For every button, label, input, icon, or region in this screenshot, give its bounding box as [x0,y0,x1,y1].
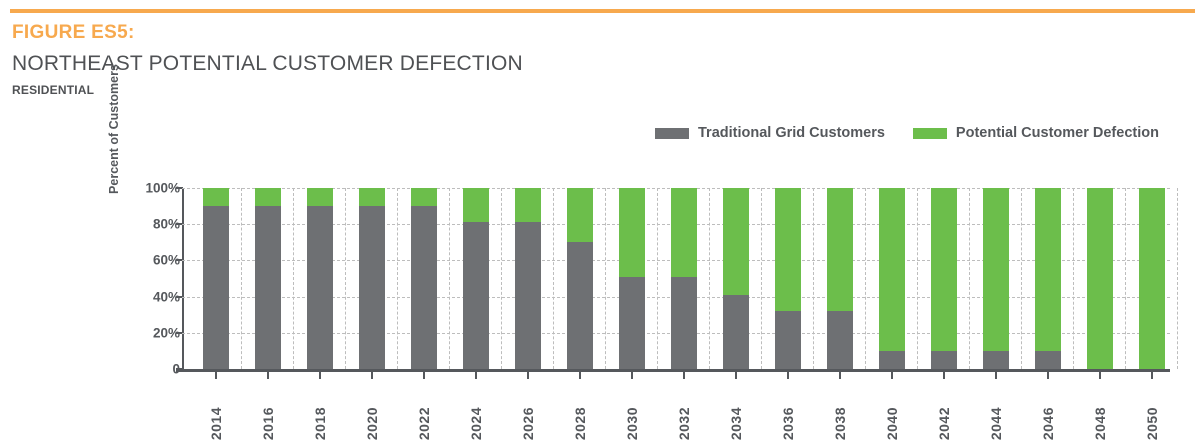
x-tick-label: 2018 [312,407,328,440]
bar-2032[interactable] [671,188,697,369]
x-tick-label: 2042 [936,407,952,440]
x-tick-mark [1047,371,1049,379]
x-tick-label: 2014 [208,407,224,440]
bar-segment-potential-defection [671,188,697,277]
x-tick-mark [371,371,373,379]
plot-area [182,188,1170,369]
bar-2050[interactable] [1139,188,1165,369]
x-tick-label: 2020 [364,407,380,440]
bar-segment-potential-defection [255,188,281,206]
vertical-gridline [1125,188,1126,369]
x-tick-mark [943,371,945,379]
stacked-bar-chart: Percent of Customers 020%40%60%80%100% 2… [0,0,1200,445]
vertical-gridline [553,188,554,369]
bar-segment-potential-defection [931,188,957,351]
bar-segment-potential-defection [463,188,489,222]
bar-segment-potential-defection [775,188,801,311]
x-tick-label: 2038 [832,407,848,440]
bar-2028[interactable] [567,188,593,369]
x-tick-mark [683,371,685,379]
vertical-gridline [761,188,762,369]
vertical-gridline [1177,188,1178,369]
bar-segment-traditional-grid [359,206,385,369]
x-tick-mark [787,371,789,379]
vertical-gridline [709,188,710,369]
bar-segment-potential-defection [307,188,333,206]
x-tick-label: 2016 [260,407,276,440]
bar-segment-traditional-grid [1035,351,1061,369]
x-axis-line [176,369,1170,372]
y-axis-title: Percent of Customers [106,38,122,220]
bar-segment-traditional-grid [515,222,541,369]
bar-2034[interactable] [723,188,749,369]
y-tick-label: 100% [128,181,180,196]
bar-2030[interactable] [619,188,645,369]
bar-segment-traditional-grid [827,311,853,369]
x-tick-label: 2034 [728,407,744,440]
bar-2042[interactable] [931,188,957,369]
x-tick-mark [1099,371,1101,379]
bar-segment-traditional-grid [203,206,229,369]
x-tick-mark [215,371,217,379]
bar-segment-potential-defection [203,188,229,206]
bar-segment-traditional-grid [723,295,749,369]
bar-2018[interactable] [307,188,333,369]
bar-segment-potential-defection [359,188,385,206]
bar-segment-traditional-grid [255,206,281,369]
x-tick-mark [891,371,893,379]
x-tick-mark [631,371,633,379]
y-tick-label: 80% [128,217,180,232]
bar-segment-potential-defection [1035,188,1061,351]
y-tick-label: 60% [128,253,180,268]
bar-2046[interactable] [1035,188,1061,369]
bar-segment-potential-defection [411,188,437,206]
x-tick-mark [839,371,841,379]
y-tick-label: 40% [128,289,180,304]
vertical-gridline [657,188,658,369]
bar-segment-traditional-grid [619,277,645,369]
y-tick-label: 20% [128,325,180,340]
vertical-gridline [449,188,450,369]
bar-2014[interactable] [203,188,229,369]
bar-2044[interactable] [983,188,1009,369]
x-tick-mark [995,371,997,379]
bar-segment-traditional-grid [879,351,905,369]
x-tick-label: 2030 [624,407,640,440]
bar-segment-potential-defection [1087,188,1113,369]
vertical-gridline [501,188,502,369]
x-tick-mark [735,371,737,379]
vertical-gridline [865,188,866,369]
x-tick-mark [267,371,269,379]
x-tick-label: 2046 [1040,407,1056,440]
bar-2022[interactable] [411,188,437,369]
bar-segment-traditional-grid [775,311,801,369]
y-tick-mark [176,368,183,370]
bar-segment-potential-defection [567,188,593,242]
x-tick-mark [423,371,425,379]
x-tick-mark [579,371,581,379]
vertical-gridline [293,188,294,369]
bar-segment-traditional-grid [307,206,333,369]
x-tick-mark [319,371,321,379]
x-tick-label: 2040 [884,407,900,440]
bar-segment-potential-defection [983,188,1009,351]
y-axis-line [182,188,184,369]
x-tick-mark [475,371,477,379]
vertical-gridline [917,188,918,369]
bar-segment-potential-defection [827,188,853,311]
bar-2048[interactable] [1087,188,1113,369]
vertical-gridline [1073,188,1074,369]
bar-2026[interactable] [515,188,541,369]
y-axis-tick-labels: 020%40%60%80%100% [128,181,180,377]
bar-segment-traditional-grid [567,242,593,369]
bar-segment-potential-defection [1139,188,1165,369]
bar-segment-potential-defection [515,188,541,222]
bar-2020[interactable] [359,188,385,369]
vertical-gridline [241,188,242,369]
bar-segment-potential-defection [723,188,749,295]
x-tick-label: 2028 [572,407,588,440]
bar-segment-potential-defection [619,188,645,277]
y-tick-label: 0 [128,362,180,377]
x-tick-label: 2036 [780,407,796,440]
x-tick-mark [527,371,529,379]
bar-segment-traditional-grid [983,351,1009,369]
x-tick-label: 2024 [468,407,484,440]
vertical-gridline [605,188,606,369]
bar-segment-traditional-grid [463,222,489,369]
x-tick-label: 2050 [1144,407,1160,440]
vertical-gridline [345,188,346,369]
bar-segment-potential-defection [879,188,905,351]
vertical-gridline [397,188,398,369]
x-tick-label: 2026 [520,407,536,440]
bar-2024[interactable] [463,188,489,369]
vertical-gridline [969,188,970,369]
x-tick-label: 2022 [416,407,432,440]
x-tick-label: 2044 [988,407,1004,440]
x-tick-mark [1151,371,1153,379]
bar-2040[interactable] [879,188,905,369]
vertical-gridline [813,188,814,369]
bar-segment-traditional-grid [931,351,957,369]
x-tick-label: 2032 [676,407,692,440]
bar-segment-traditional-grid [411,206,437,369]
x-tick-label: 2048 [1092,407,1108,440]
bar-segment-traditional-grid [671,277,697,369]
vertical-gridline [1021,188,1022,369]
x-axis-tick-labels: 2014201620182020202220242026202820302032… [182,380,1170,440]
bar-2038[interactable] [827,188,853,369]
bar-2036[interactable] [775,188,801,369]
bar-2016[interactable] [255,188,281,369]
